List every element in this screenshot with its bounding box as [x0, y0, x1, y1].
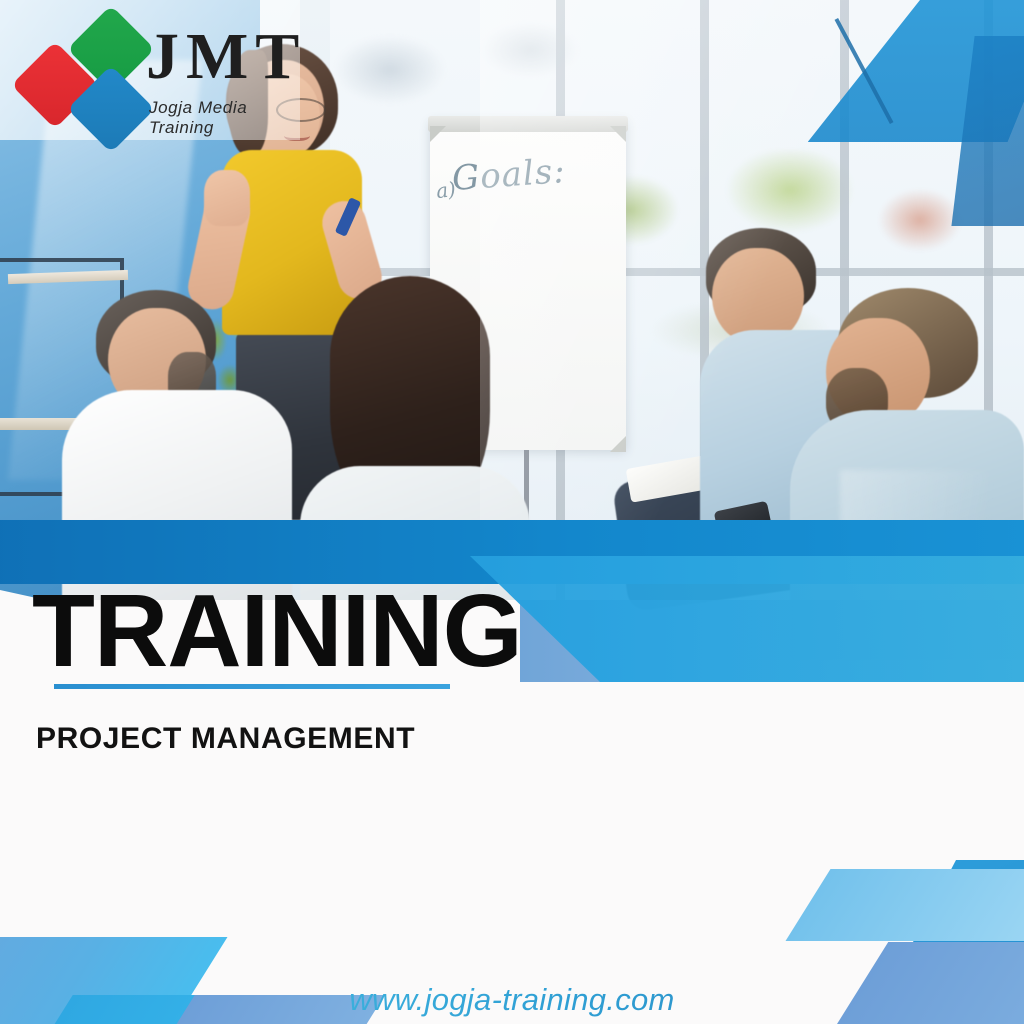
website-url[interactable]: www.jogja-training.com [0, 982, 1024, 1018]
page-subtitle: PROJECT MANAGEMENT [36, 722, 415, 756]
decor-bottom-right-shape-2 [786, 869, 1024, 941]
training-poster: a) Goals: [0, 0, 1024, 1024]
whiteboard-text: Goals: [451, 151, 567, 199]
brand-logo[interactable]: JMT Jogja Media Training [18, 18, 308, 130]
title-underline-rule [54, 684, 450, 689]
logo-tagline: Jogja Media Training [149, 98, 308, 138]
flipchart-clamp [428, 116, 628, 132]
logo-initials: JMT [146, 22, 306, 92]
presenter-hand-left [204, 170, 250, 226]
page-title: TRAINING [32, 578, 522, 684]
